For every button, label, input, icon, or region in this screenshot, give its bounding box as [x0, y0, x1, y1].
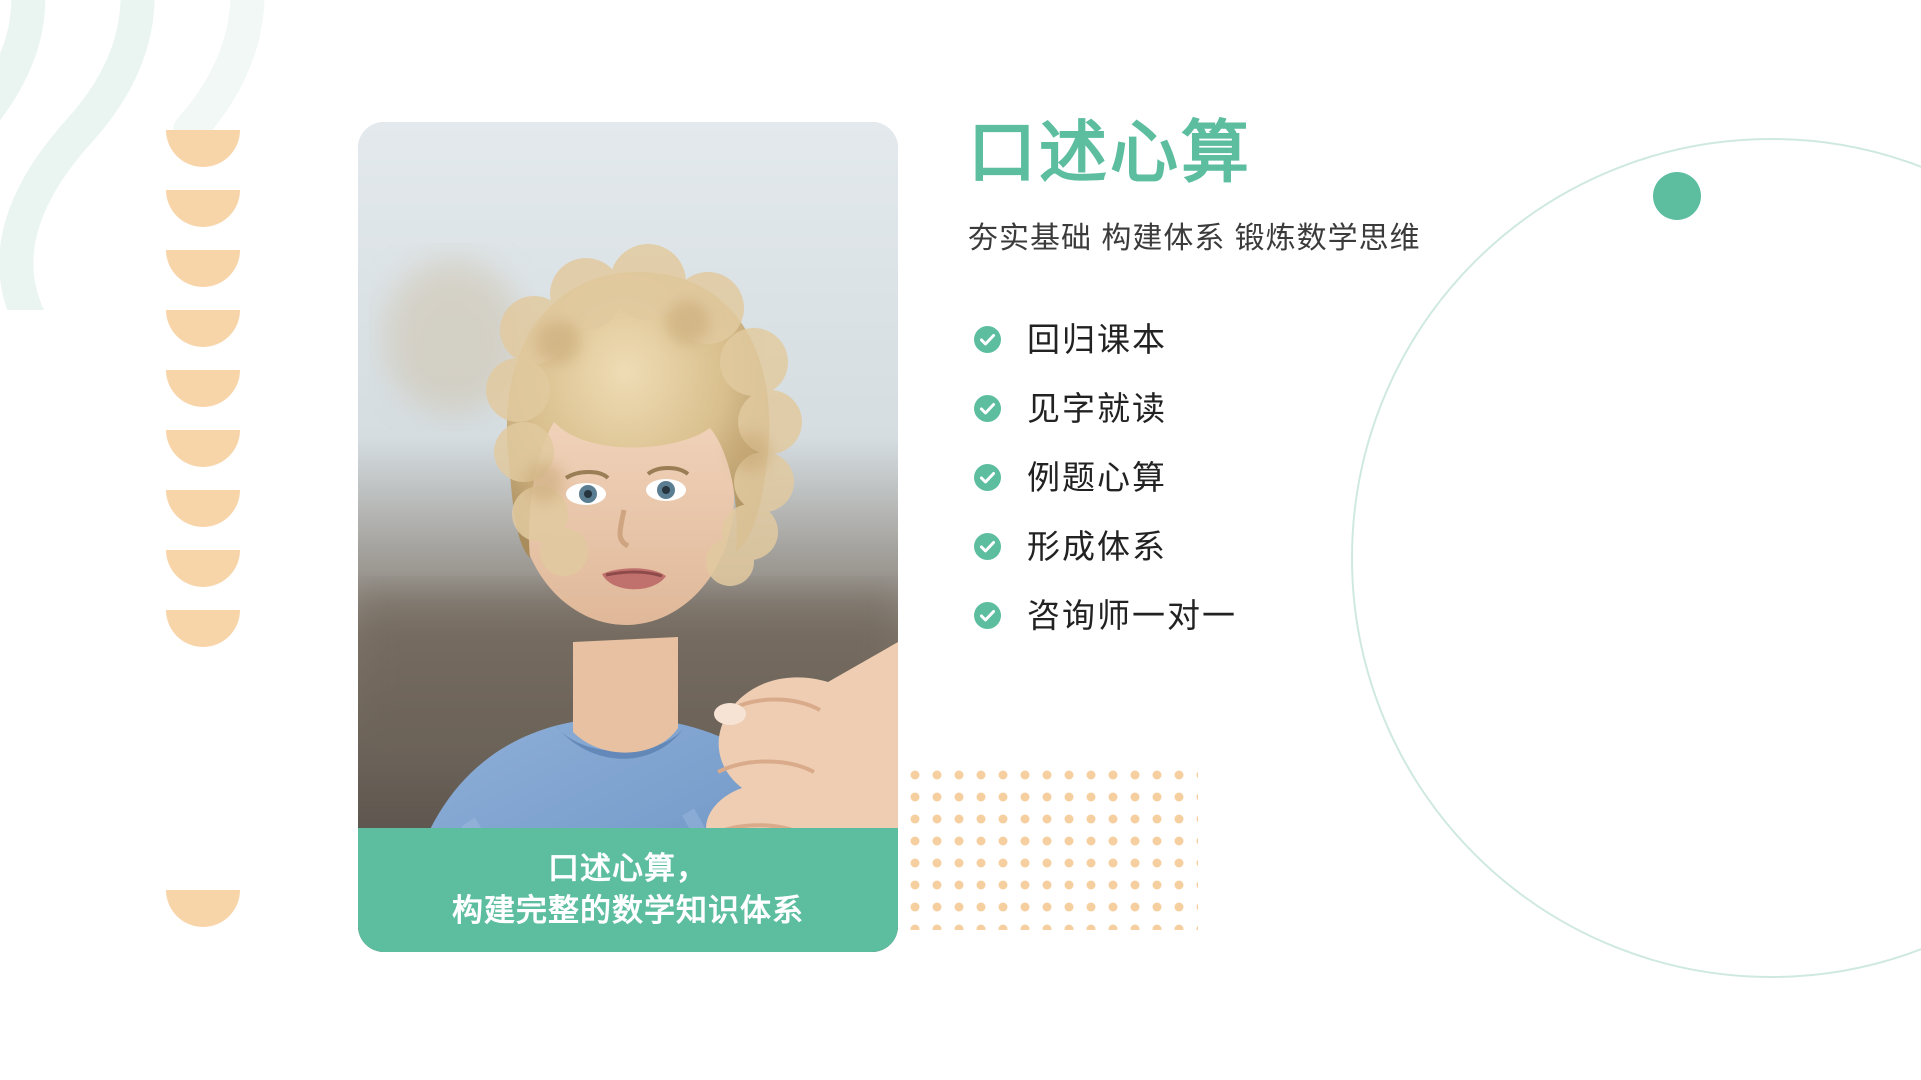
content-column: 口述心算 夯实基础 构建体系 锻炼数学思维 回归课本 见字就读	[968, 118, 1688, 668]
photo-card: 口述心算， 构建完整的数学知识体系	[358, 122, 898, 952]
page-title: 口述心算	[968, 118, 1688, 189]
check-circle-icon	[974, 602, 1001, 629]
orange-half-circle-stack	[166, 130, 246, 670]
feature-list: 回归课本 见字就读 例题心算	[974, 323, 1688, 632]
half-circle-shape	[166, 610, 240, 647]
check-circle-icon	[974, 395, 1001, 422]
list-item-label: 咨询师一对一	[1027, 599, 1237, 632]
orange-dot-grid	[888, 770, 1198, 930]
half-circle-shape	[166, 890, 240, 927]
caption-line-2: 构建完整的数学知识体系	[452, 890, 804, 932]
half-circle-shape	[166, 250, 240, 287]
caption-line-1: 口述心算，	[548, 848, 708, 890]
page-subtitle: 夯实基础 构建体系 锻炼数学思维	[968, 213, 1688, 257]
half-circle-shape	[166, 370, 240, 407]
list-item: 例题心算	[974, 461, 1688, 494]
list-item-label: 形成体系	[1027, 530, 1167, 563]
half-circle-shape	[166, 490, 240, 527]
half-circle-shape	[166, 430, 240, 467]
half-circle-shape	[166, 130, 240, 167]
check-circle-icon	[974, 464, 1001, 491]
half-circle-shape	[166, 310, 240, 347]
half-circle-shape	[166, 190, 240, 227]
slide-canvas: 口述心算， 构建完整的数学知识体系 口述心算 夯实基础 构建体系 锻炼数学思维 …	[0, 0, 1921, 1080]
list-item: 咨询师一对一	[974, 599, 1688, 632]
half-circle-shape	[166, 550, 240, 587]
check-circle-icon	[974, 533, 1001, 560]
list-item: 回归课本	[974, 323, 1688, 356]
list-item: 见字就读	[974, 392, 1688, 425]
list-item-label: 回归课本	[1027, 323, 1167, 356]
photo-caption-band: 口述心算， 构建完整的数学知识体系	[358, 828, 898, 952]
list-item: 形成体系	[974, 530, 1688, 563]
check-circle-icon	[974, 326, 1001, 353]
list-item-label: 例题心算	[1027, 461, 1167, 494]
list-item-label: 见字就读	[1027, 392, 1167, 425]
